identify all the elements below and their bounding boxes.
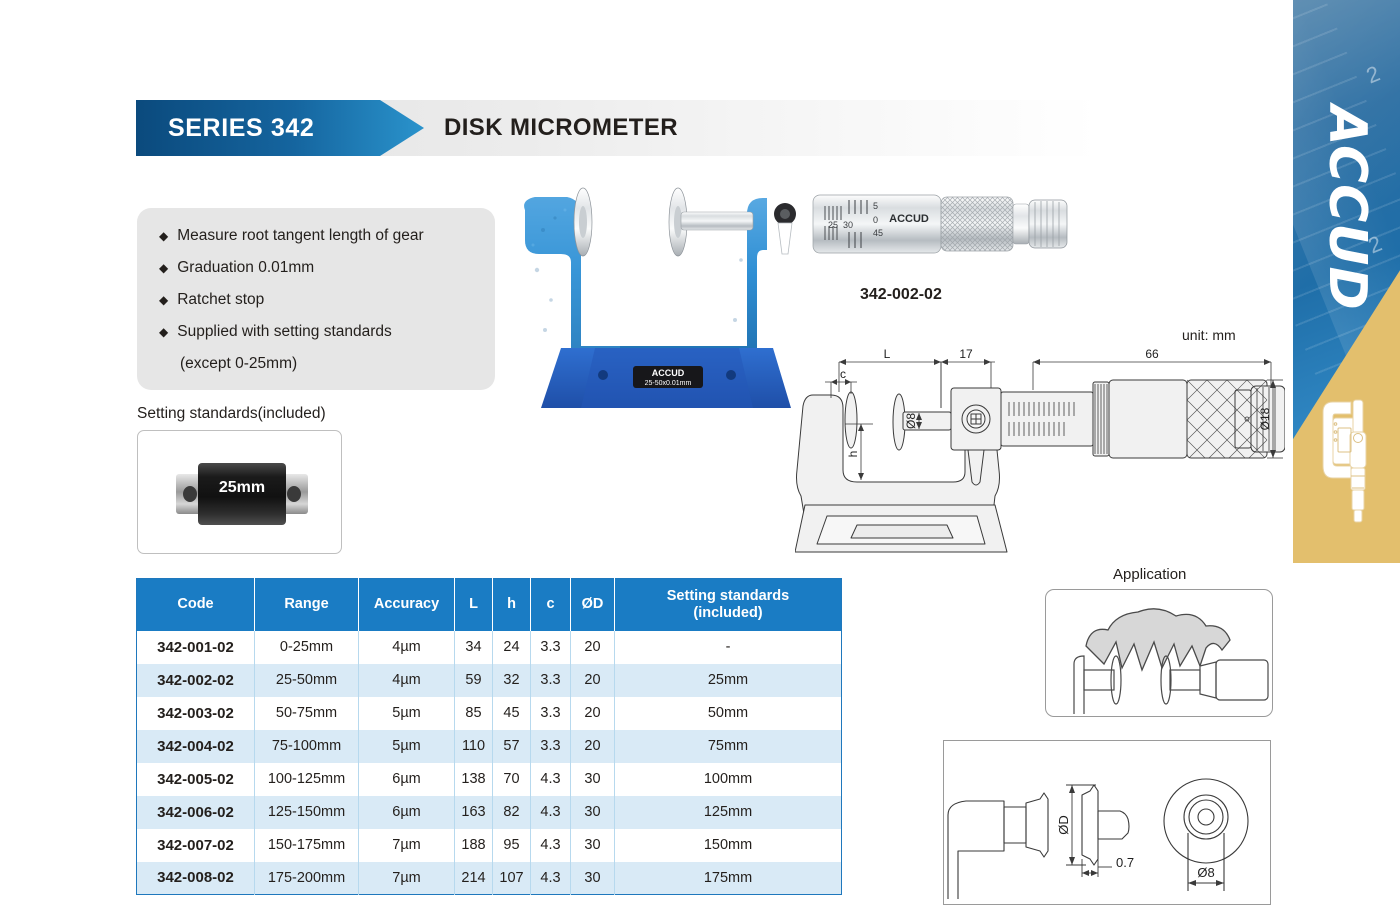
- cell-c: 4.3: [531, 862, 571, 895]
- dim-label-17: 17: [959, 347, 973, 361]
- lock-clamp: [774, 203, 796, 254]
- cell-diameter: 20: [571, 631, 615, 664]
- thimble-tick-label: 30: [843, 220, 853, 230]
- column-header-code: Code: [137, 579, 255, 631]
- frame-base-plate: ACCUD 25-50x0.01mm: [541, 348, 791, 408]
- feature-text: Ratchet stop: [177, 289, 264, 311]
- cell-h: 45: [493, 697, 531, 730]
- diamond-bullet-icon: ◆: [159, 321, 168, 343]
- cell-diameter: 30: [571, 763, 615, 796]
- specification-table: Code Range Accuracy L h c ØD Setting sta…: [136, 578, 842, 895]
- cell-code: 342-008-02: [137, 862, 255, 895]
- feature-item: ◆ Measure root tangent length of gear: [159, 225, 495, 247]
- cell-c: 3.3: [531, 730, 571, 763]
- cell-code: 342-002-02: [137, 664, 255, 697]
- series-label: SERIES 342: [136, 114, 314, 143]
- diamond-bullet-icon: ◆: [159, 289, 168, 311]
- setting-standards-image-box: 25mm: [137, 430, 342, 554]
- cell-setting: 50mm: [615, 697, 842, 730]
- column-header-L: L: [455, 579, 493, 631]
- cell-L: 85: [455, 697, 493, 730]
- cell-accuracy: 7µm: [359, 862, 455, 895]
- diamond-bullet-icon: ◆: [159, 257, 168, 279]
- table-header-row: Code Range Accuracy L h c ØD Setting sta…: [137, 579, 842, 631]
- cell-accuracy: 6µm: [359, 796, 455, 829]
- diamond-bullet-icon: ◆: [159, 225, 168, 247]
- feature-text-continuation: (except 0-25mm): [159, 353, 495, 375]
- column-header-h: h: [493, 579, 531, 631]
- thimble-tick-label: 25: [828, 220, 838, 230]
- frame-brand-label: ACCUD: [652, 368, 685, 378]
- cell-accuracy: 4µm: [359, 631, 455, 664]
- cell-code: 342-006-02: [137, 796, 255, 829]
- cell-setting: -: [615, 631, 842, 664]
- cell-diameter: 30: [571, 796, 615, 829]
- table-row: 342-007-02 150-175mm 7µm 188 95 4.3 30 1…: [137, 829, 842, 862]
- cell-accuracy: 5µm: [359, 697, 455, 730]
- feature-text: Measure root tangent length of gear: [177, 225, 423, 247]
- table-body: 342-001-02 0-25mm 4µm 34 24 3.3 20 - 342…: [137, 631, 842, 895]
- cell-L: 34: [455, 631, 493, 664]
- feature-panel: ◆ Measure root tangent length of gear ◆ …: [137, 208, 495, 390]
- cell-c: 3.3: [531, 664, 571, 697]
- column-header-range: Range: [255, 579, 359, 631]
- table-row: 342-004-02 75-100mm 5µm 110 57 3.3 20 75…: [137, 730, 842, 763]
- page-title: DISK MICROMETER: [444, 100, 678, 156]
- cell-accuracy: 4µm: [359, 664, 455, 697]
- cell-range: 75-100mm: [255, 730, 359, 763]
- detail-label-d8: Ø8: [1197, 865, 1214, 880]
- thimble-tick-label: 0: [873, 215, 878, 225]
- application-illustration: [1045, 589, 1273, 717]
- feature-item: ◆ Graduation 0.01mm: [159, 257, 495, 279]
- cell-L: 188: [455, 829, 493, 862]
- cell-h: 107: [493, 862, 531, 895]
- cell-setting: 100mm: [615, 763, 842, 796]
- thimble-tick-label: 5: [873, 201, 878, 211]
- cell-L: 110: [455, 730, 493, 763]
- cell-diameter: 20: [571, 730, 615, 763]
- table-row: 342-008-02 175-200mm 7µm 214 107 4.3 30 …: [137, 862, 842, 895]
- feature-item: ◆ Ratchet stop: [159, 289, 495, 311]
- brand-sidebar: 2 2 2 ACCUD: [1293, 0, 1400, 563]
- spindle-shaft: [681, 212, 753, 230]
- gauge-size-label: 25mm: [198, 479, 286, 497]
- setting-standards-header-line2: (included): [617, 605, 839, 622]
- barrel-sleeve: 25 30 5 0 45 ACCUD: [813, 195, 941, 253]
- cell-h: 95: [493, 829, 531, 862]
- dim-label-c: c: [840, 367, 846, 381]
- cell-code: 342-003-02: [137, 697, 255, 730]
- knurled-thimble: [941, 197, 1013, 251]
- dim-label-d8: Ø8: [904, 413, 918, 429]
- cell-setting: 75mm: [615, 730, 842, 763]
- cell-range: 50-75mm: [255, 697, 359, 730]
- cell-h: 24: [493, 631, 531, 664]
- frame-spec-label: 25-50x0.01mm: [645, 380, 692, 387]
- dim-label-h: h: [846, 451, 860, 458]
- cell-code: 342-007-02: [137, 829, 255, 862]
- setting-standards-header-line1: Setting standards: [617, 588, 839, 605]
- cell-accuracy: 5µm: [359, 730, 455, 763]
- cell-diameter: 30: [571, 862, 615, 895]
- accud-logo: ACCUD: [1317, 68, 1377, 348]
- cell-setting: 175mm: [615, 862, 842, 895]
- cell-c: 4.3: [531, 763, 571, 796]
- feature-item: ◆ Supplied with setting standards: [159, 321, 495, 343]
- cell-setting: 150mm: [615, 829, 842, 862]
- cell-diameter: 20: [571, 697, 615, 730]
- ratchet-stop: [1013, 200, 1067, 248]
- table-row: 342-006-02 125-150mm 6µm 163 82 4.3 30 1…: [137, 796, 842, 829]
- cell-c: 3.3: [531, 697, 571, 730]
- cell-range: 100-125mm: [255, 763, 359, 796]
- series-badge: SERIES 342: [136, 100, 424, 156]
- cell-c: 4.3: [531, 796, 571, 829]
- cell-range: 150-175mm: [255, 829, 359, 862]
- dim-label-L: L: [884, 347, 891, 361]
- cell-accuracy: 7µm: [359, 829, 455, 862]
- cell-range: 0-25mm: [255, 631, 359, 664]
- cell-setting: 25mm: [615, 664, 842, 697]
- cell-code: 342-004-02: [137, 730, 255, 763]
- thimble-tick-label: 45: [873, 228, 883, 238]
- setting-standards-label: Setting standards(included): [137, 405, 326, 423]
- cell-range: 175-200mm: [255, 862, 359, 895]
- page-header: SERIES 342 DISK MICROMETER: [136, 100, 1098, 156]
- cell-h: 70: [493, 763, 531, 796]
- disk-detail-drawing: ØD 0.7 Ø8: [943, 740, 1271, 905]
- cell-c: 4.3: [531, 829, 571, 862]
- table-row: 342-002-02 25-50mm 4µm 59 32 3.3 20 25mm: [137, 664, 842, 697]
- cell-L: 59: [455, 664, 493, 697]
- cell-range: 25-50mm: [255, 664, 359, 697]
- cell-L: 214: [455, 862, 493, 895]
- cell-code: 342-001-02: [137, 631, 255, 664]
- cell-range: 125-150mm: [255, 796, 359, 829]
- cell-h: 57: [493, 730, 531, 763]
- column-header-c: c: [531, 579, 571, 631]
- barrel-brand-label: ACCUD: [889, 213, 929, 225]
- cell-c: 3.3: [531, 631, 571, 664]
- table-row: 342-005-02 100-125mm 6µm 138 70 4.3 30 1…: [137, 763, 842, 796]
- cell-accuracy: 6µm: [359, 763, 455, 796]
- detail-label-thickness: 0.7: [1116, 855, 1134, 870]
- catalog-page: 2 2 2 ACCUD: [0, 0, 1400, 914]
- column-header-diameter: ØD: [571, 579, 615, 631]
- cell-code: 342-005-02: [137, 763, 255, 796]
- cell-L: 138: [455, 763, 493, 796]
- cell-diameter: 20: [571, 664, 615, 697]
- feature-text: Supplied with setting standards: [177, 321, 392, 343]
- table-row: 342-001-02 0-25mm 4µm 34 24 3.3 20 -: [137, 631, 842, 664]
- cell-diameter: 30: [571, 829, 615, 862]
- dim-label-d18: Ø18: [1258, 407, 1272, 430]
- cell-setting: 125mm: [615, 796, 842, 829]
- cell-h: 32: [493, 664, 531, 697]
- feature-text: Graduation 0.01mm: [177, 257, 314, 279]
- dim-label-66: 66: [1145, 347, 1159, 361]
- column-header-setting-standards: Setting standards (included): [615, 579, 842, 631]
- micrometer-icon: [1317, 398, 1379, 528]
- technical-drawing: L c 17 66 Ø8 h Ø18: [795, 320, 1285, 575]
- application-label: Application: [1113, 566, 1186, 583]
- detail-label-dD: ØD: [1056, 815, 1071, 835]
- product-model-number: 342-002-02: [860, 286, 942, 304]
- table-row: 342-003-02 50-75mm 5µm 85 45 3.3 20 50mm: [137, 697, 842, 730]
- cell-h: 82: [493, 796, 531, 829]
- anvil-disk: [574, 188, 592, 256]
- column-header-accuracy: Accuracy: [359, 579, 455, 631]
- cell-L: 163: [455, 796, 493, 829]
- setting-standard-gauge: 25mm: [170, 459, 312, 529]
